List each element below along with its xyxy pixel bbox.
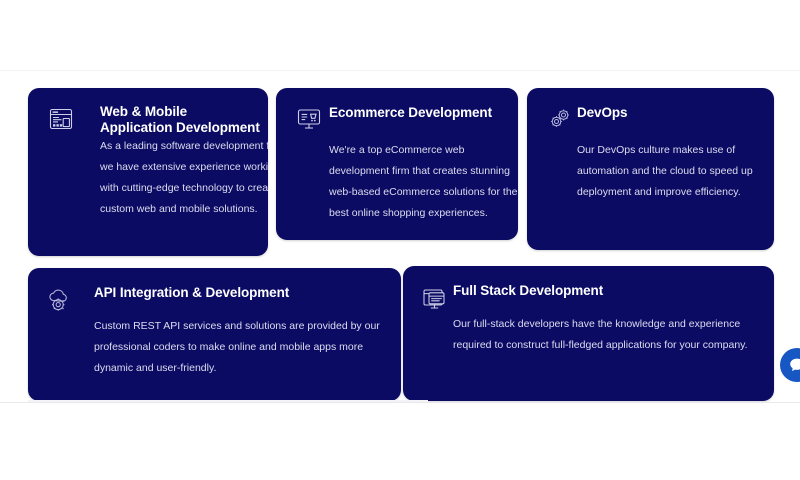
service-card-web-mobile-application-development[interactable]: Web & Mobile Application Development As … — [28, 88, 268, 256]
service-cards-grid: Web & Mobile Application Development As … — [0, 0, 800, 480]
service-card-ecommerce-development[interactable]: Ecommerce Development We're a top eComme… — [276, 88, 518, 240]
service-card-devops[interactable]: DevOps Our DevOps culture makes use of a… — [527, 88, 774, 250]
desktop-monitor-cart-icon — [292, 102, 326, 136]
card-body: Custom REST API services and solutions a… — [94, 316, 394, 379]
card-title: Full Stack Development — [453, 283, 753, 299]
browser-window-icon — [44, 102, 78, 136]
gears-icon — [543, 102, 577, 136]
service-card-api-integration-development[interactable]: API Integration & Development Custom RES… — [28, 268, 401, 401]
card-body: Our DevOps culture makes use of automati… — [577, 140, 767, 203]
card-title: API Integration & Development — [94, 285, 394, 301]
card-inner: Ecommerce Development We're a top eComme… — [276, 88, 518, 240]
card-body: Our full-stack developers have the knowl… — [453, 314, 748, 356]
card-body: As a leading software development firm, … — [100, 136, 268, 220]
card-title: DevOps — [577, 105, 757, 121]
card-body: We're a top eCommerce web development fi… — [329, 140, 518, 224]
card-inner: API Integration & Development Custom RES… — [28, 268, 401, 401]
service-card-full-stack-development[interactable]: Full Stack Development Our full-stack de… — [403, 266, 774, 401]
services-section: Web & Mobile Application Development As … — [0, 0, 800, 480]
card-inner: DevOps Our DevOps culture makes use of a… — [527, 88, 774, 250]
card-inner: Full Stack Development Our full-stack de… — [403, 266, 774, 401]
card-inner: Web & Mobile Application Development As … — [28, 88, 268, 256]
card-title: Web & Mobile Application Development — [100, 104, 260, 137]
cloud-gear-icon — [42, 284, 76, 318]
bottom-divider — [0, 402, 800, 403]
card-title: Ecommerce Development — [329, 105, 509, 121]
stacked-windows-icon — [417, 282, 451, 316]
